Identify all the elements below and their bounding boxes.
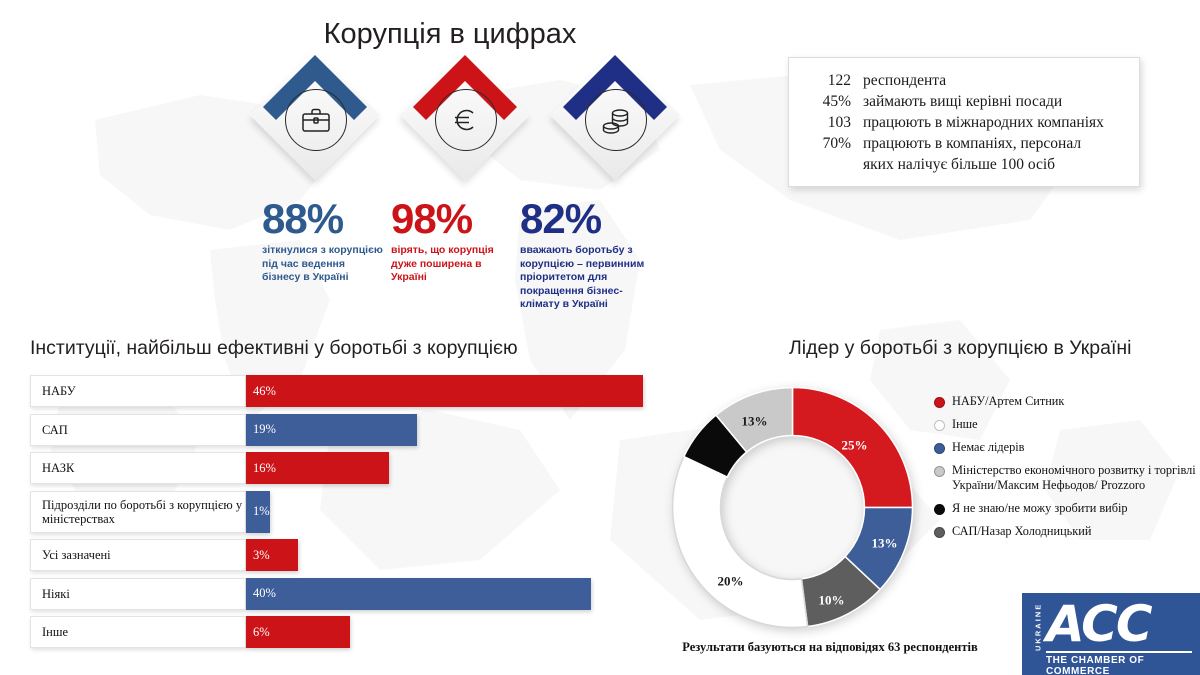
bar-value: 19% [246,422,276,437]
info-row: 103 працюють в міжнародних компаніях [807,112,1131,133]
bar-fill: 1% [246,491,270,533]
stat-value: 82% [520,196,652,242]
legend-color-swatch [934,504,945,515]
donut-value-10: 10% [819,593,845,608]
bar-label: НАБУ [30,375,246,407]
legend-color-swatch [934,466,945,477]
bar-value: 3% [246,548,270,563]
page-title-wrap: Корупція в цифрах [150,18,750,51]
info-text: респондента [863,70,1131,91]
legend-item-other[interactable]: Інше [934,417,1196,432]
bar-label: Підрозділи по боротьбі з корупцією у мін… [30,491,246,533]
info-row: 122 респондента [807,70,1131,91]
stat-98: 98% вірять, що корупція дуже поширена в … [391,196,515,285]
logo-vertical-text: UKRAINE [1031,602,1045,652]
legend-label: Інше [952,417,978,432]
info-text: займають вищі керівні посади [863,91,1131,112]
bar-label: НАЗК [30,452,246,484]
bar-fill: 6% [246,616,350,648]
stat-caption: вірять, що корупція дуже поширена в Укра… [391,244,515,285]
legend-label: САП/Назар Холодницький [952,524,1091,539]
coins-icon [585,89,647,151]
info-number: 122 [807,70,863,91]
logo-mark: ACC [1046,595,1151,653]
donut-slice-other [673,457,808,628]
bar-row: Ніякі 40% [30,578,670,610]
donut-chart-title: Лідер у боротьбі з корупцією в Україні [789,337,1131,360]
info-text: працюють в компаніях, персонал [863,133,1131,154]
stat-88: 88% зіткнулися з корупцією під час веден… [262,196,386,285]
euro-icon [435,89,497,151]
info-number: 45% [807,91,863,112]
info-text: працюють в міжнародних компаніях [863,112,1131,133]
bar-row: Підрозділи по боротьбі з корупцією у мін… [30,491,670,533]
bar-row: НАЗК 16% [30,452,670,484]
legend-item-no-leaders[interactable]: Немає лідерів [934,440,1196,455]
bar-value: 46% [246,384,276,399]
legend-item-sap[interactable]: САП/Назар Холодницький [934,524,1196,539]
bar-chart: НАБУ 46% САП 19% НАЗК 16% Підрозділи по … [30,375,670,655]
briefcase-icon [285,89,347,151]
bar-label: САП [30,414,246,446]
bar-value: 40% [246,586,276,601]
stat-value: 88% [262,196,386,242]
donut-value-11: 11% [697,469,722,484]
diamond-euro [405,55,525,175]
bar-fill: 40% [246,578,591,610]
info-continuation: яких налічує більше 100 осіб [807,154,1131,175]
infographic-root: Корупція в цифрах [0,0,1200,675]
info-row: 70% працюють в компаніях, персонал [807,133,1131,154]
bar-value: 16% [246,461,276,476]
stat-caption: зіткнулися з корупцією під час ведення б… [262,244,386,285]
donut-value-25: 25% [842,438,868,453]
donut-value-20: 20% [718,574,744,589]
logo-tagline: THE CHAMBER OF COMMERCE [1046,655,1200,675]
legend-item-dont-know[interactable]: Я не знаю/не можу зробити вибір [934,501,1196,516]
legend-item-ministry[interactable]: Міністерство економічного розвитку і тор… [934,463,1196,493]
acc-logo: UKRAINE ACC THE CHAMBER OF COMMERCE [1022,593,1200,675]
legend-color-swatch [934,443,945,454]
diamond-briefcase [255,55,375,175]
bar-label: Ніякі [30,578,246,610]
legend-color-swatch [934,420,945,431]
bar-chart-title: Інституції, найбільш ефективні у боротьб… [30,337,518,360]
info-number: 70% [807,133,863,154]
diamond-coins [555,55,675,175]
legend-label: Немає лідерів [952,440,1024,455]
legend-item-nabu[interactable]: НАБУ/Артем Ситник [934,394,1196,409]
respondents-info-box: 122 респондента 45% займають вищі керівн… [788,57,1140,187]
info-row: 45% займають вищі керівні посади [807,91,1131,112]
bar-fill: 16% [246,452,389,484]
bar-row: Усі зазначені 3% [30,539,670,571]
donut-legend: НАБУ/Артем Ситник Інше Немає лідерів Мін… [934,394,1196,547]
stat-value: 98% [391,196,515,242]
bar-fill: 19% [246,414,417,446]
logo-divider [1046,651,1192,653]
bar-row: Інше 6% [30,616,670,648]
bar-label: Інше [30,616,246,648]
bar-fill: 3% [246,539,298,571]
donut-value-13-gray: 13% [742,414,768,429]
legend-color-swatch [934,527,945,538]
legend-color-swatch [934,397,945,408]
donut-chart: 25% 13% 10% 20% 11% 13% [660,375,925,640]
bar-row: НАБУ 46% [30,375,670,407]
legend-label: Міністерство економічного розвитку і тор… [952,463,1196,493]
bar-fill: 46% [246,375,643,407]
legend-label: НАБУ/Артем Ситник [952,394,1064,409]
donut-footnote: Результати базуються на відповідях 63 ре… [600,640,1060,655]
key-stats: 88% зіткнулися з корупцією під час веден… [262,196,682,326]
stat-82: 82% вважають боротьбу з корупцією – перв… [520,196,652,312]
bar-value: 1% [246,504,270,519]
page-title: Корупція в цифрах [150,18,750,51]
bar-value: 6% [246,625,270,640]
legend-label: Я не знаю/не можу зробити вибір [952,501,1128,516]
icon-diamond-row [255,55,675,195]
donut-value-13-blue: 13% [872,536,898,551]
stat-caption: вважають боротьбу з корупцією – первинни… [520,244,652,312]
bar-label: Усі зазначені [30,539,246,571]
bar-row: САП 19% [30,414,670,446]
info-number: 103 [807,112,863,133]
